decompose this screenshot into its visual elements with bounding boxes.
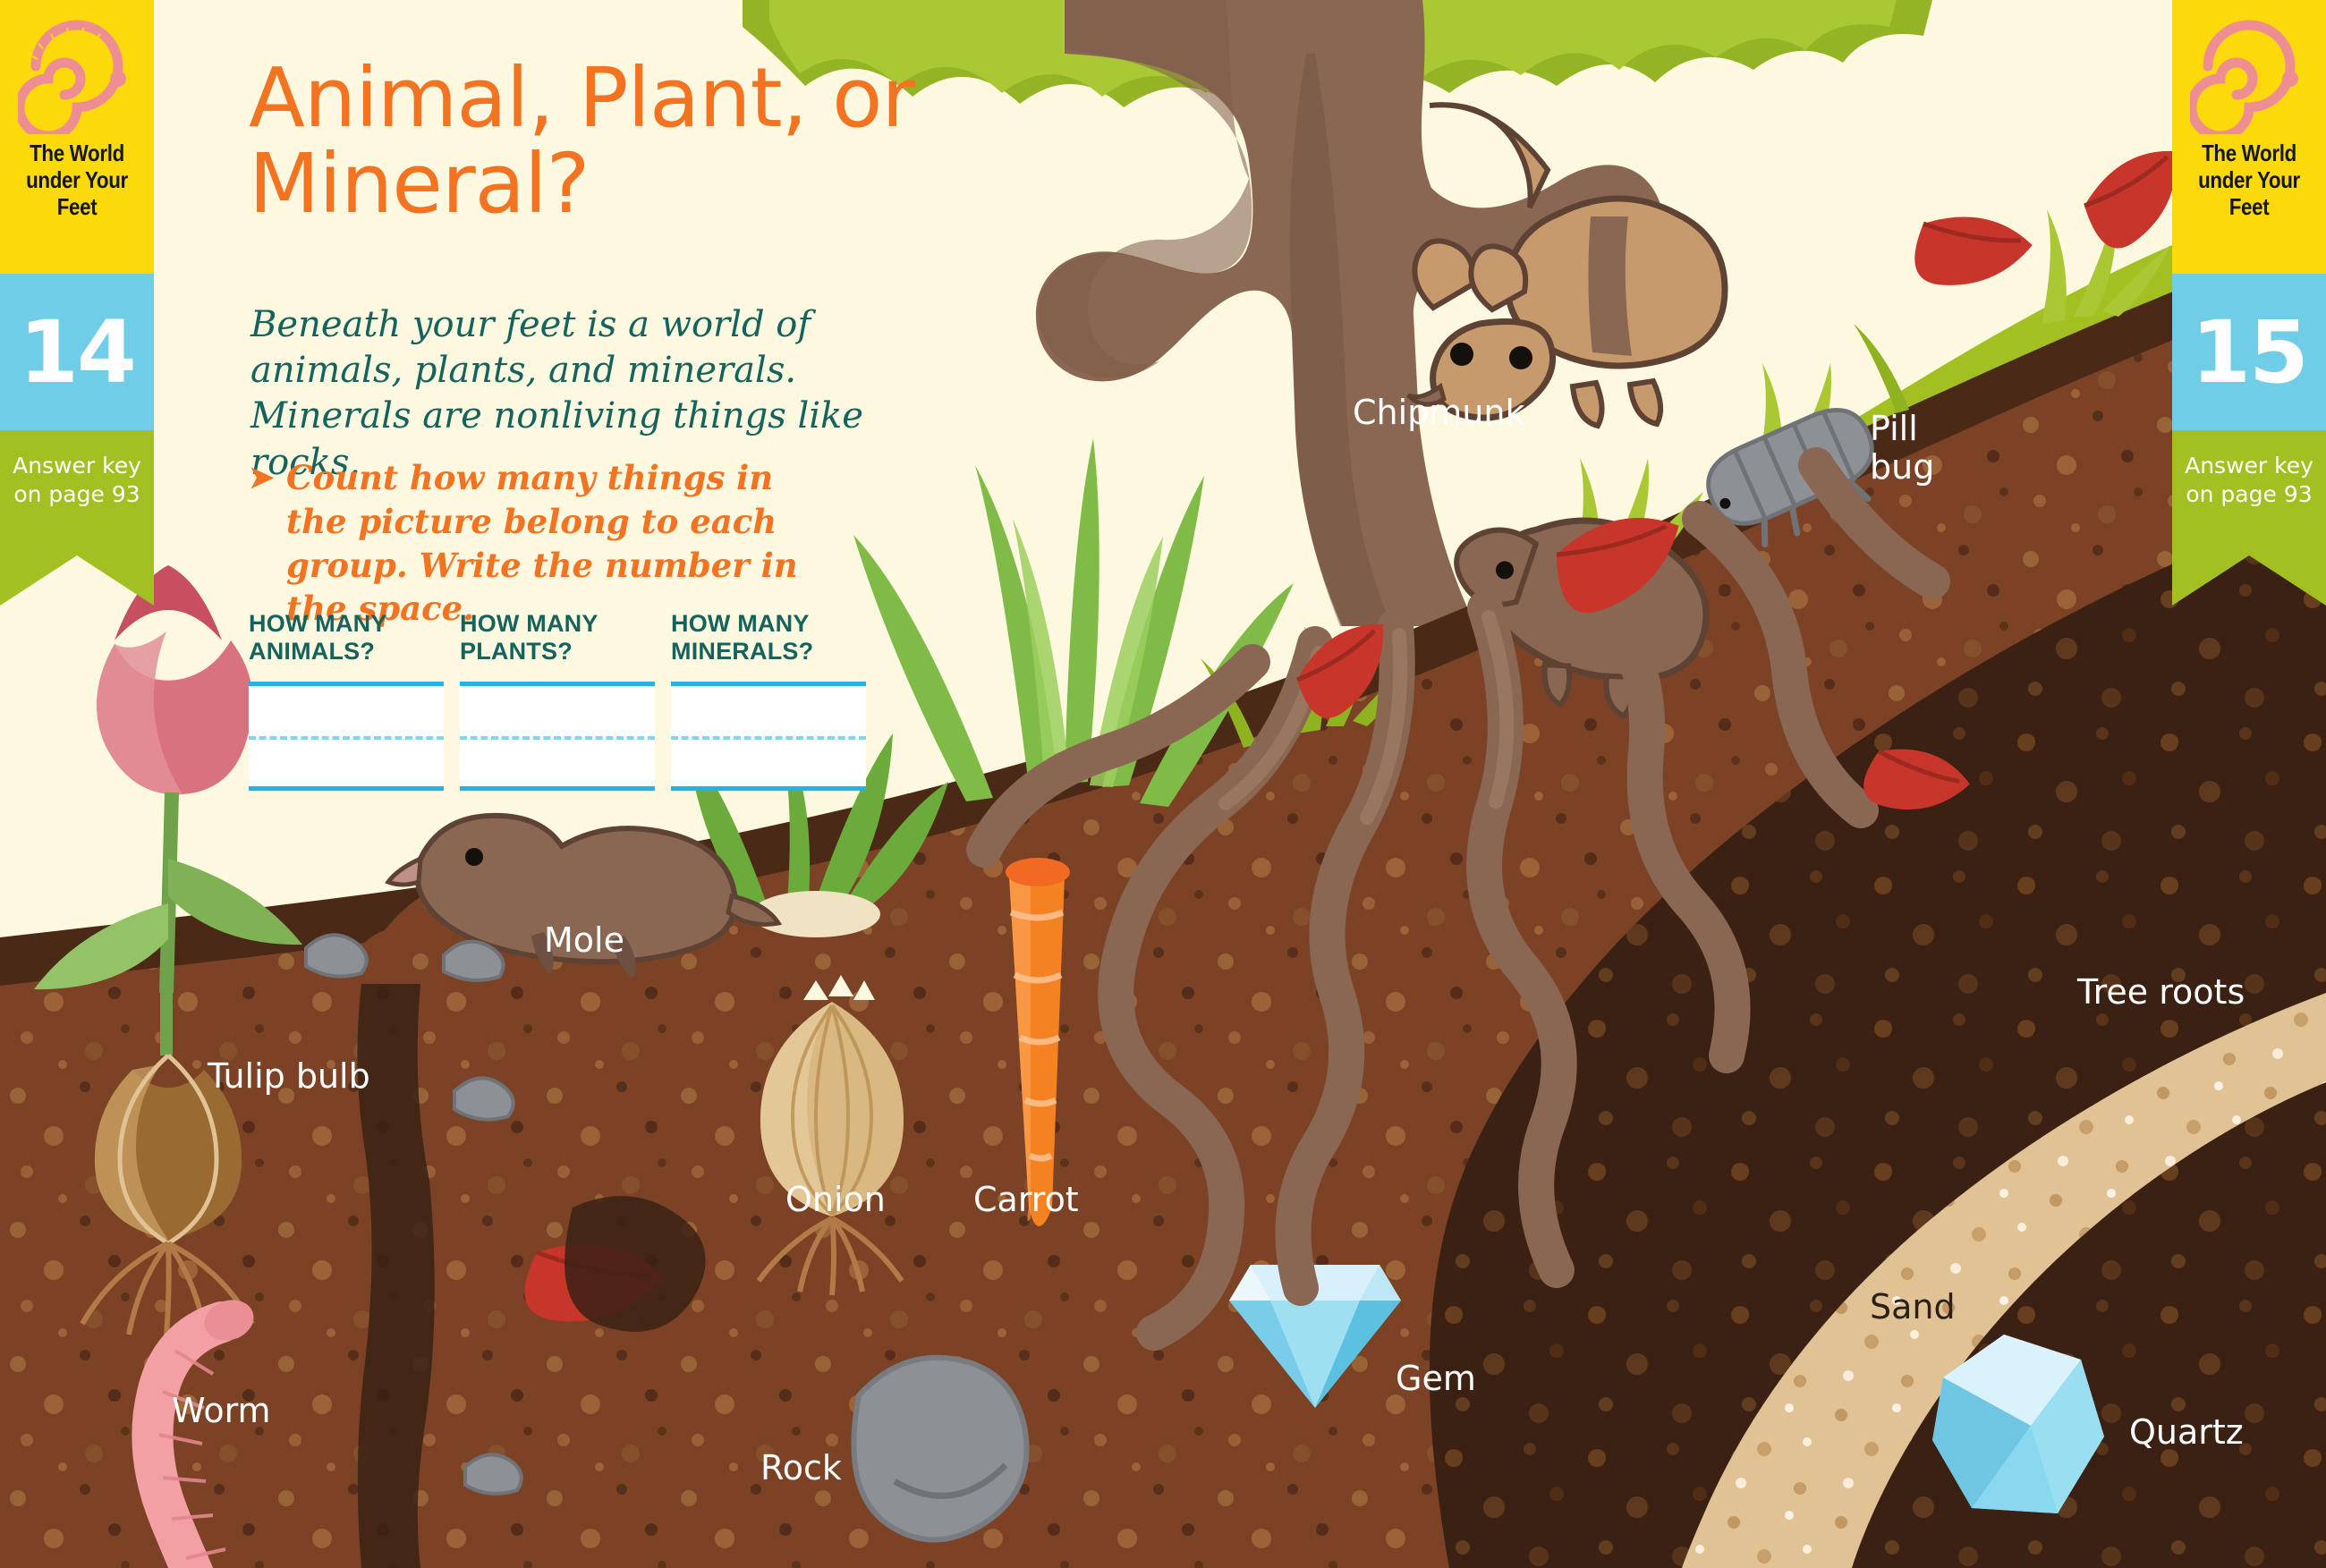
count-boxes: HOW MANY ANIMALS? HOW MANY PLANTS? HOW M… (249, 610, 866, 791)
left-page-tab: The World under Your Feet 14 Answer key … (0, 0, 154, 606)
animals-answer-input[interactable] (249, 682, 444, 791)
label-pill-bug: Pill bug (1870, 410, 1934, 486)
label-carrot: Carrot (973, 1181, 1079, 1219)
instruction-text: Count how many things in the picture bel… (249, 456, 803, 631)
plants-answer-input[interactable] (460, 682, 655, 791)
label-tree-roots: Tree roots (2077, 973, 2245, 1012)
count-box-caption: HOW MANY ANIMALS? (249, 610, 444, 665)
label-chipmunk: Chipmunk (1353, 394, 1525, 432)
arrow-icon: ➤ (249, 458, 275, 498)
label-gem: Gem (1396, 1360, 1476, 1398)
label-quartz: Quartz (2129, 1413, 2244, 1452)
page-number-value: 15 (2191, 309, 2307, 395)
label-onion: Onion (785, 1181, 886, 1219)
count-box-plants: HOW MANY PLANTS? (460, 610, 655, 791)
coiled-worm-icon (2190, 16, 2308, 134)
count-box-caption: HOW MANY MINERALS? (671, 610, 866, 665)
right-page-tab: The World under Your Feet 15 Answer key … (2172, 0, 2326, 606)
tab-answer-key: Answer key on page 93 (0, 430, 154, 555)
tab-page-number: 15 (2172, 274, 2326, 430)
page-number-value: 14 (19, 309, 135, 395)
tab-chapter-block: The World under Your Feet (0, 0, 154, 274)
label-sand: Sand (1870, 1288, 1956, 1326)
tab-page-number: 14 (0, 274, 154, 430)
tab-point-shape (0, 555, 154, 606)
workbook-spread: The World under Your Feet 14 Answer key … (0, 0, 2326, 1568)
tab-chapter-title: The World under Your Feet (11, 140, 143, 220)
tab-point-shape (2172, 555, 2326, 606)
page-title: Animal, Plant, or Mineral? (249, 55, 929, 226)
activity-instruction: ➤ Count how many things in the picture b… (249, 456, 803, 631)
label-rock: Rock (760, 1449, 842, 1487)
tab-answer-key: Answer key on page 93 (2172, 430, 2326, 555)
count-box-animals: HOW MANY ANIMALS? (249, 610, 444, 791)
answer-key-text: Answer key on page 93 (2185, 452, 2313, 509)
count-box-minerals: HOW MANY MINERALS? (671, 610, 866, 791)
label-tulip-bulb: Tulip bulb (208, 1057, 370, 1096)
coiled-worm-icon (18, 16, 136, 134)
answer-key-text: Answer key on page 93 (13, 452, 141, 509)
minerals-answer-input[interactable] (671, 682, 866, 791)
tab-chapter-title: The World under Your Feet (2183, 140, 2315, 220)
tab-chapter-block: The World under Your Feet (2172, 0, 2326, 274)
label-worm: Worm (172, 1392, 271, 1430)
label-mole: Mole (544, 921, 624, 960)
count-box-caption: HOW MANY PLANTS? (460, 610, 655, 665)
